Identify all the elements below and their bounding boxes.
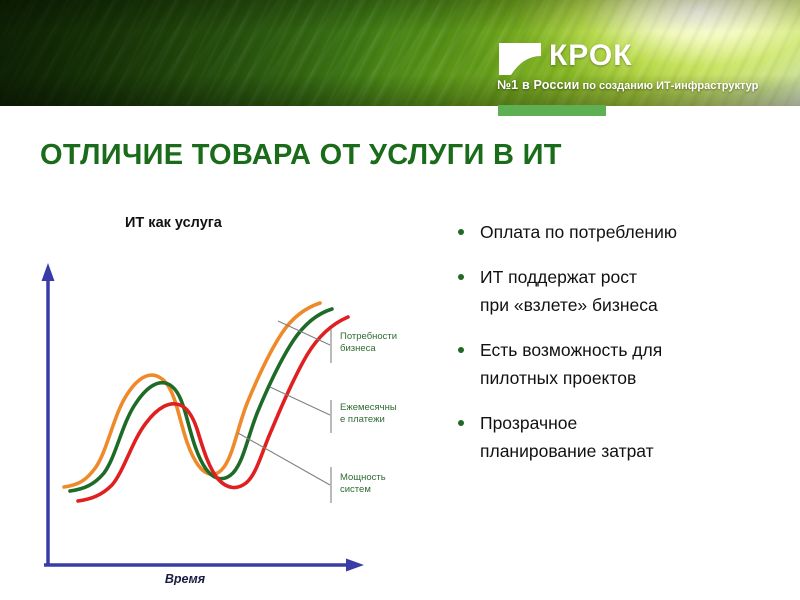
logo-tagline-bold: №1 в России xyxy=(497,78,580,92)
bullet-line-1: Оплата по потреблению xyxy=(480,218,792,246)
bullet-line-2: планирование затрат xyxy=(480,437,792,465)
list-item: ИТ поддержат рост при «взлете» бизнеса xyxy=(452,263,792,319)
annotation-moshchnost-line2: систем xyxy=(340,484,371,495)
list-item: Прозрачное планирование затрат xyxy=(452,409,792,465)
bullet-line-2: пилотных проектов xyxy=(480,364,792,392)
page-title: ОТЛИЧИЕ ТОВАРА ОТ УСЛУГИ В ИТ xyxy=(40,137,760,173)
annotation-potrebnosti-line1: Потребности xyxy=(340,331,397,342)
it-as-service-chart: Потребности бизнеса Ежемесячны е платежи… xyxy=(20,235,440,585)
bullet-dot-icon xyxy=(458,420,464,426)
bullet-line-1: ИТ поддержат рост xyxy=(480,263,792,291)
krok-logo: КРОК №1 в России по созданию ИТ-инфрастр… xyxy=(497,40,787,98)
logo-wordmark: КРОК xyxy=(549,39,633,73)
bullet-line-1: Есть возможность для xyxy=(480,336,792,364)
x-axis-label: Время xyxy=(165,572,206,585)
logo-tagline-rest: по созданию ИТ-инфраструктур xyxy=(580,80,759,92)
annotation-platezhi-line2: е платежи xyxy=(340,414,385,425)
annotation-potrebnosti-line2: бизнеса xyxy=(340,343,376,354)
annotation-moshchnost-line1: Мощность xyxy=(340,472,386,483)
annotation-platezhi-line1: Ежемесячны xyxy=(340,402,397,413)
list-item: Оплата по потреблению xyxy=(452,218,792,246)
chart-block: ИТ как услуга Потребности бизнеса xyxy=(20,205,440,590)
bullet-line-2: при «взлете» бизнеса xyxy=(480,291,792,319)
list-item: Есть возможность для пилотных проектов xyxy=(452,336,792,392)
krok-flag-icon xyxy=(497,42,543,76)
chart-caption: ИТ как услуга xyxy=(125,215,222,231)
bullet-dot-icon xyxy=(458,347,464,353)
accent-bar xyxy=(498,105,606,116)
logo-tagline: №1 в России по созданию ИТ-инфраструктур xyxy=(497,78,758,93)
chart-axes xyxy=(42,263,365,572)
bullet-dot-icon xyxy=(458,229,464,235)
curve-potrebnosti-biznesa xyxy=(64,303,320,487)
bullet-list: Оплата по потреблению ИТ поддержат рост … xyxy=(452,218,792,482)
bullet-dot-icon xyxy=(458,274,464,280)
chart-annotation-labels: Потребности бизнеса Ежемесячны е платежи… xyxy=(340,331,397,495)
bullet-line-1: Прозрачное xyxy=(480,409,792,437)
header-banner: КРОК №1 в России по созданию ИТ-инфрастр… xyxy=(0,0,800,106)
